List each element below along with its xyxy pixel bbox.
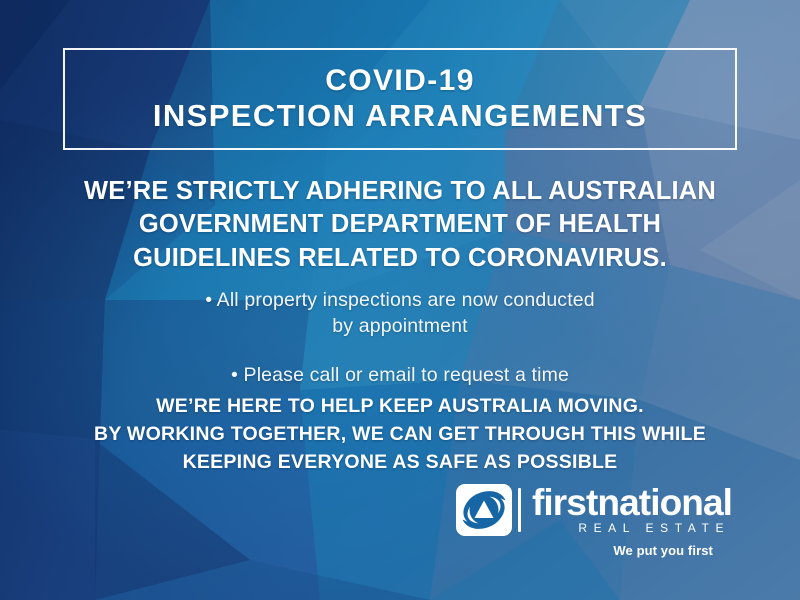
closing-statement-block: WE’RE HERE TO HELP KEEP AUSTRALIA MOVING…: [70, 392, 730, 476]
bullet-1-line-1: • All property inspections are now condu…: [80, 288, 720, 314]
logo-wordmark: firstnational: [532, 485, 732, 521]
closing-line-2: BY WORKING TOGETHER, WE CAN GET THROUGH …: [70, 420, 730, 448]
title-frame-box: COVID-19 INSPECTION ARRANGEMENTS: [63, 48, 737, 150]
logo-wordmark-group: firstnational REAL ESTATE: [532, 485, 732, 536]
closing-line-1: WE’RE HERE TO HELP KEEP AUSTRALIA MOVING…: [70, 392, 730, 420]
poster-content: COVID-19 INSPECTION ARRANGEMENTS WE’RE S…: [0, 0, 800, 600]
bullet-2-line-1: • Please call or email to request a time: [80, 363, 720, 389]
logo-divider: [518, 488, 521, 532]
headline-block: WE’RE STRICTLY ADHERING TO ALL AUSTRALIA…: [60, 175, 740, 275]
bullet-1-line-2: by appointment: [80, 314, 720, 340]
headline-line-1: WE’RE STRICTLY ADHERING TO ALL AUSTRALIA…: [60, 175, 740, 208]
logo-tagline: We put you first: [613, 543, 713, 558]
first-national-logo: firstnational REAL ESTATE We put you fir…: [455, 483, 755, 565]
closing-line-3: KEEPING EVERYONE AS SAFE AS POSSIBLE: [70, 448, 730, 476]
poster-title: COVID-19 INSPECTION ARRANGEMENTS: [153, 64, 647, 135]
headline-line-2: GOVERNMENT DEPARTMENT OF HEALTH: [60, 208, 740, 241]
list-item: • All property inspections are now condu…: [80, 288, 720, 340]
first-national-circle-triangle-icon: [455, 483, 513, 537]
covid-inspection-poster: COVID-19 INSPECTION ARRANGEMENTS WE’RE S…: [0, 0, 800, 600]
headline-line-3: GUIDELINES RELATED TO CORONAVIRUS.: [60, 242, 740, 275]
bullet-spacer: [80, 340, 720, 363]
title-line-2: INSPECTION ARRANGEMENTS: [153, 98, 647, 134]
logo-row: firstnational REAL ESTATE: [455, 483, 732, 537]
title-line-1: COVID-19: [153, 64, 647, 99]
bullet-list: • All property inspections are now condu…: [80, 288, 720, 389]
list-item: • Please call or email to request a time: [80, 363, 720, 389]
logo-subwordmark: REAL ESTATE: [532, 521, 732, 535]
